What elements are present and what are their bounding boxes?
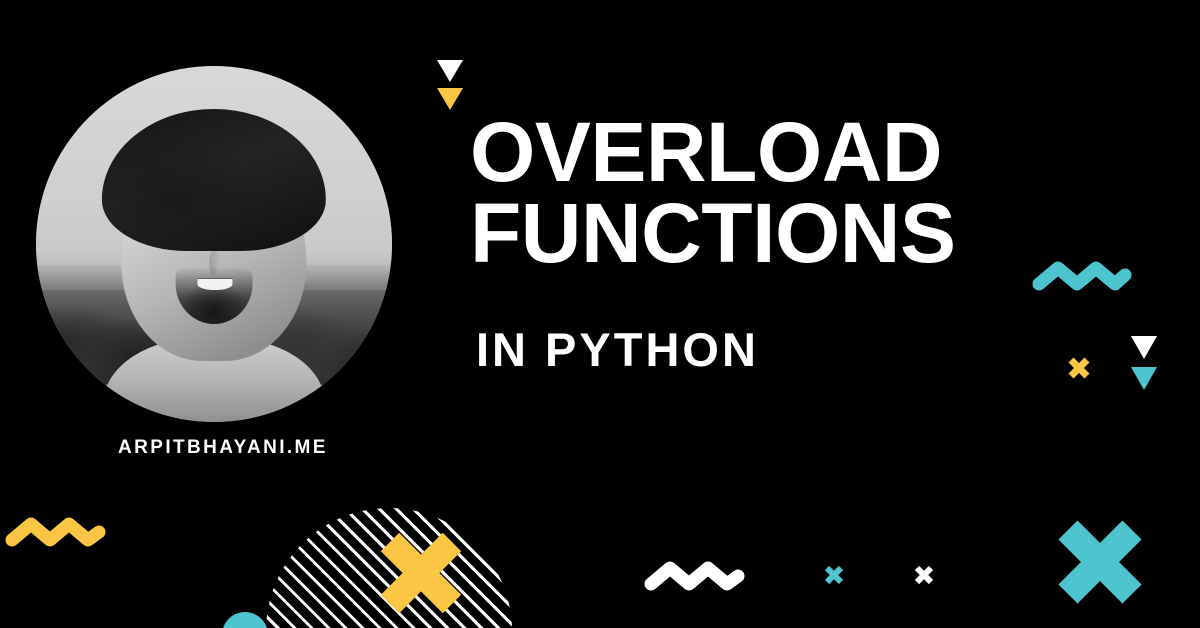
- white-x-small-icon: [912, 563, 936, 587]
- yellow-triangle-icon: [437, 88, 463, 110]
- cyan-x-small-icon: [822, 563, 846, 587]
- page-subtitle: IN PYTHON: [476, 322, 759, 377]
- cyan-zigzag-icon: [1032, 260, 1132, 294]
- cyan-triangle-icon: [1131, 367, 1157, 390]
- white-triangle-icon: [437, 60, 463, 82]
- photo-beard: [175, 267, 253, 324]
- yellow-zigzag-icon: [4, 516, 106, 550]
- photo-hair: [102, 109, 326, 251]
- white-triangle-icon: [1131, 336, 1157, 359]
- cyan-circle: [222, 612, 268, 628]
- page-title-line-2: FUNCTIONS: [470, 193, 955, 274]
- cyan-x-large-icon: [1052, 514, 1148, 610]
- site-url: ARPITBHAYANI.ME: [118, 437, 328, 459]
- yellow-x-large-icon: [376, 528, 466, 618]
- page-title-line-1: OVERLOAD: [470, 112, 942, 193]
- poster-canvas: ARPITBHAYANI.ME OVERLOAD FUNCTIONS IN PY…: [0, 0, 1200, 628]
- avatar: [36, 66, 392, 422]
- white-zigzag-icon: [643, 560, 745, 594]
- avatar-photo: [36, 66, 392, 422]
- yellow-x-small-icon: [1066, 355, 1092, 381]
